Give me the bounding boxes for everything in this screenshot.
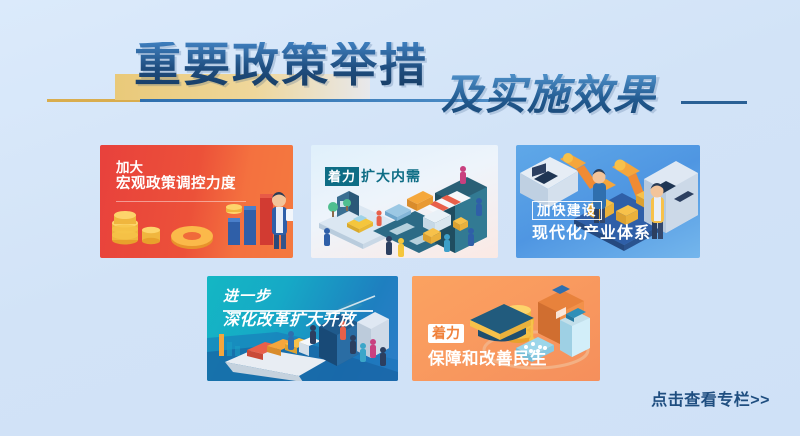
page-subtitle: 及实施效果	[441, 74, 656, 116]
card-2-illustration	[311, 145, 498, 258]
poster-header: 重要政策举措 重要政策举措 及实施效果 及实施效果	[0, 0, 800, 140]
card-4-line2: 深化改革扩大开放	[223, 312, 355, 331]
policy-card-reform-opening[interactable]: 进一步 深化改革扩大开放	[207, 276, 398, 381]
title-right-rule	[681, 101, 747, 104]
policy-card-expand-demand[interactable]: 着力扩大内需	[311, 145, 498, 258]
card-2-line2: 扩大内需	[361, 168, 421, 184]
card-3-line2: 现代化产业体系	[532, 225, 651, 244]
card-1-line1: 加大	[116, 160, 236, 176]
card-3-text: 加快建设 现代化产业体系	[532, 201, 651, 244]
policy-card-modern-industry[interactable]: 加快建设 现代化产业体系	[516, 145, 700, 258]
policy-card-livelihood[interactable]: 着力 保障和改善民生	[412, 276, 600, 381]
card-5-line2: 保障和改善民生	[428, 350, 547, 369]
card-1-text: 加大 宏观政策调控力度	[116, 160, 236, 192]
card-5-line1: 着力	[428, 324, 464, 342]
poster-canvas: 重要政策举措 重要政策举措 及实施效果 及实施效果	[0, 0, 800, 436]
card-2-text: 着力扩大内需	[325, 167, 421, 187]
card-4-line1: 进一步	[223, 288, 355, 305]
card-5-line1-wrap: 着力	[428, 324, 547, 344]
title-underline	[140, 99, 490, 102]
policy-card-macro-regulation[interactable]: 加大 宏观政策调控力度	[100, 145, 293, 258]
card-2-line1: 着力	[325, 167, 359, 186]
card-4-text: 进一步 深化改革扩大开放	[223, 288, 355, 331]
card-1-divider	[116, 201, 246, 202]
card-1-line2: 宏观政策调控力度	[116, 176, 236, 193]
card-3-line1: 加快建设	[532, 201, 602, 221]
page-title: 重要政策举措	[134, 42, 428, 89]
card-5-text: 着力 保障和改善民生	[428, 324, 547, 369]
view-column-link[interactable]: 点击查看专栏>>	[651, 386, 770, 410]
